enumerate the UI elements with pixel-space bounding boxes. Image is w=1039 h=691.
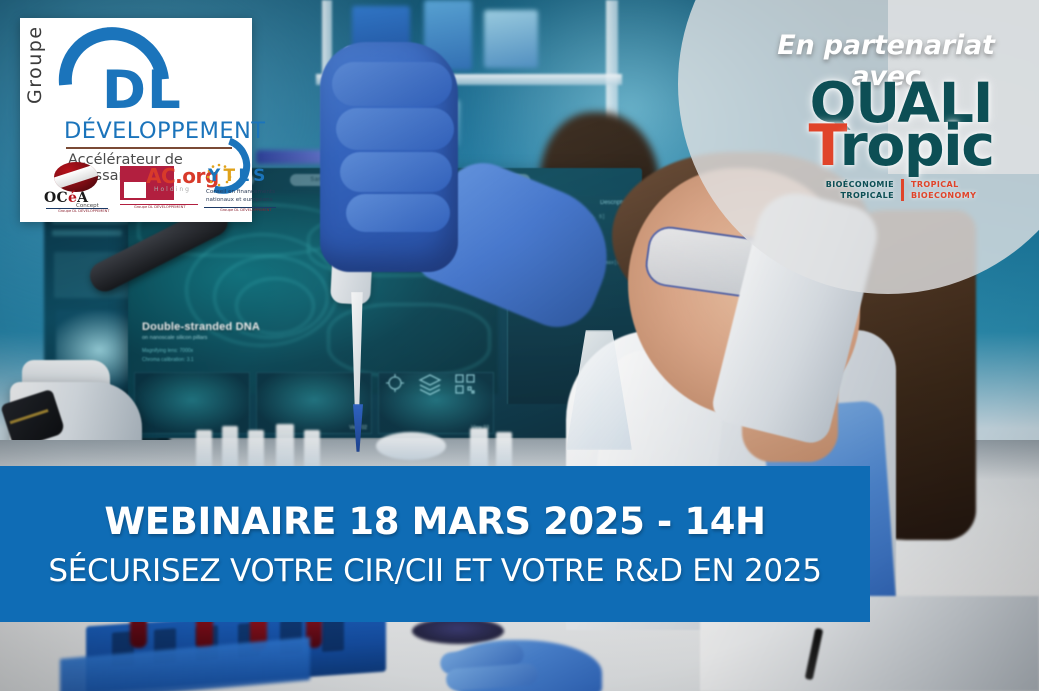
qualitropic-logo: QUALI Tropic BIOÉCONOMIE TROPICALE TROPI… — [786, 76, 1016, 206]
acorg-group-tag: Groupe DL DÉVELOPPEMENT — [134, 205, 186, 209]
glove-knuckle — [332, 62, 452, 106]
logo-dl-text: DL — [102, 64, 182, 117]
glove-knuckle — [336, 108, 454, 150]
tropic-initial: T — [808, 113, 839, 179]
ytes-letter-t: T — [224, 166, 239, 186]
ytes-sub-line-1: Conseil en financements — [206, 188, 275, 196]
tropic-rest: ropic — [840, 113, 994, 179]
sub-logo-ocea: OCéA Concept Groupe DL DÉVELOPPEMENT — [44, 162, 110, 214]
layers-icon — [417, 372, 443, 396]
ytes-letter-y: Y — [208, 166, 224, 186]
qualitropic-word-tropic: Tropic — [786, 118, 1016, 175]
sample-vial — [276, 424, 294, 472]
poster-root: Home Samples Workflows Description gene_… — [0, 0, 1039, 691]
tagline-fr-line-1: BIOÉCONOMIE — [826, 179, 894, 190]
ocea-sphere-icon — [54, 162, 98, 192]
glove-knuckle — [340, 152, 452, 192]
ytes-subtitle: Conseil en financements nationaux et eur… — [206, 188, 275, 204]
webinar-banner: WEBINAIRE 18 MARS 2025 - 14H SÉCURISEZ V… — [0, 466, 870, 622]
monitor-caption-title: Double-stranded DNA — [142, 321, 260, 333]
monitor-caption: Double-stranded DNA on nanoscale silicon… — [142, 321, 260, 364]
monitor-thumbnail — [134, 372, 250, 434]
ytes-sub-line-2: nationaux et européens — [206, 196, 275, 204]
acorg-subtitle: Holding — [154, 186, 191, 193]
ocea-group-tag: Groupe DL DÉVELOPPEMENT — [58, 209, 110, 213]
ytes-wordmark: YTES — [208, 166, 269, 186]
sub-logo-acorg: AC.org Holding Groupe DL DÉVELOPPEMENT — [120, 164, 200, 214]
dl-developpement-logo-card: Groupe DL DÉVELOPPEMENT Accélérateur de … — [20, 18, 252, 222]
acorg-notch — [124, 182, 146, 198]
brain-chip-icon — [382, 372, 408, 396]
tagline-english: TROPICAL BIOECONOMY — [904, 179, 976, 201]
banner-subtitle: SÉCURISEZ VOTRE CIR/CII ET VOTRE R&D EN … — [48, 553, 821, 589]
tagline-french: BIOÉCONOMIE TROPICALE — [826, 179, 901, 201]
qr-code-icon — [452, 372, 478, 396]
logo-groupe-text: Groupe — [24, 25, 46, 104]
logo-card-inner: Groupe DL DÉVELOPPEMENT Accélérateur de … — [20, 18, 252, 222]
monitor-icon-row — [382, 370, 502, 432]
ytes-group-tag: Groupe DL DÉVELOPPEMENT — [220, 208, 272, 212]
tagline-en-line-2: BIOECONOMY — [911, 190, 976, 201]
glove-knuckle — [346, 194, 450, 232]
sub-logo-ytes: YTES Conseil en financements nationaux e… — [204, 162, 278, 216]
monitor-caption-sub: on nanoscale silicon pillars — [142, 335, 260, 341]
ytes-letter-s: S — [253, 166, 268, 186]
tagline-fr-line-2: TROPICALE — [826, 190, 894, 201]
ytes-letter-e: E — [238, 166, 253, 186]
ocea-part-1: OC — [44, 190, 68, 206]
shelf-bottle-c — [484, 10, 538, 68]
secondary-monitor-row — [52, 230, 122, 236]
sample-dish — [376, 432, 446, 460]
tagline-en-line-1: TROPICAL — [911, 179, 976, 190]
monitor-caption-meta-1: Magnifying lens: 7000x — [142, 347, 260, 355]
banner-title: WEBINAIRE 18 MARS 2025 - 14H — [104, 500, 765, 543]
sub-logos-row: OCéA Concept Groupe DL DÉVELOPPEMENT AC.… — [28, 162, 248, 218]
qualitropic-taglines: BIOÉCONOMIE TROPICALE TROPICAL BIOECONOM… — [786, 179, 1016, 201]
monitor-caption-meta-2: Chroma calibration: 3.1 — [142, 356, 260, 364]
